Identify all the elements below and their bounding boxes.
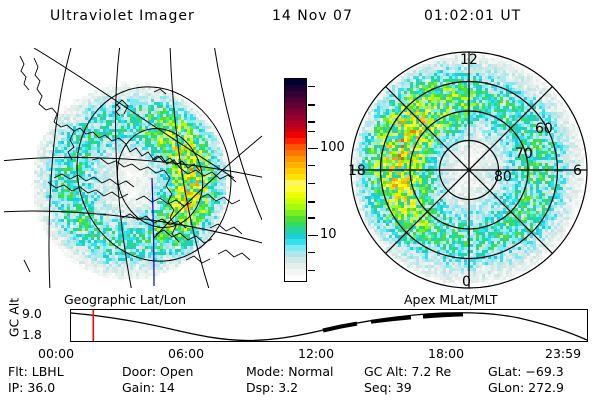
aurora-pixel bbox=[425, 55, 428, 58]
aurora-pixel bbox=[464, 94, 467, 97]
aurora-pixel bbox=[133, 234, 136, 237]
aurora-pixel bbox=[73, 117, 76, 120]
aurora-pixel bbox=[121, 177, 124, 180]
aurora-pixel bbox=[133, 267, 136, 270]
aurora-pixel bbox=[533, 94, 536, 97]
aurora-pixel bbox=[536, 103, 539, 106]
aurora-pixel bbox=[437, 64, 440, 67]
aurora-pixel bbox=[100, 147, 103, 150]
aurora-pixel bbox=[163, 204, 166, 207]
aurora-pixel bbox=[500, 127, 503, 130]
aurora-pixel bbox=[106, 159, 109, 162]
aurora-pixel bbox=[506, 61, 509, 64]
aurora-pixel bbox=[130, 141, 133, 144]
aurora-pixel bbox=[166, 267, 169, 270]
aurora-pixel bbox=[100, 273, 103, 276]
aurora-pixel bbox=[43, 192, 46, 195]
aurora-pixel bbox=[34, 201, 37, 204]
aurora-pixel bbox=[43, 213, 46, 216]
aurora-pixel bbox=[434, 82, 437, 85]
aurora-pixel bbox=[109, 150, 112, 153]
aurora-pixel bbox=[380, 121, 383, 124]
aurora-pixel bbox=[136, 276, 139, 279]
aurora-pixel bbox=[479, 58, 482, 61]
aurora-pixel bbox=[160, 93, 163, 96]
aurora-pixel bbox=[506, 106, 509, 109]
aurora-pixel bbox=[509, 64, 512, 67]
aurora-pixel bbox=[82, 183, 85, 186]
aurora-pixel bbox=[464, 124, 467, 127]
aurora-pixel bbox=[485, 70, 488, 73]
aurora-pixel bbox=[187, 123, 190, 126]
aurora-pixel bbox=[130, 237, 133, 240]
aurora-pixel bbox=[196, 111, 199, 114]
aurora-pixel bbox=[461, 121, 464, 124]
aurora-pixel bbox=[142, 240, 145, 243]
aurora-pixel bbox=[106, 90, 109, 93]
aurora-pixel bbox=[133, 117, 136, 120]
aurora-pixel bbox=[554, 94, 557, 97]
aurora-pixel bbox=[43, 135, 46, 138]
aurora-pixel bbox=[488, 94, 491, 97]
aurora-pixel bbox=[506, 64, 509, 67]
aurora-pixel bbox=[154, 99, 157, 102]
aurora-pixel bbox=[437, 67, 440, 70]
aurora-pixel bbox=[52, 198, 55, 201]
aurora-pixel bbox=[115, 240, 118, 243]
aurora-pixel bbox=[94, 90, 97, 93]
aurora-pixel bbox=[64, 147, 67, 150]
aurora-pixel bbox=[530, 88, 533, 91]
aurora-pixel bbox=[431, 79, 434, 82]
aurora-pixel bbox=[97, 111, 100, 114]
aurora-pixel bbox=[70, 186, 73, 189]
aurora-pixel bbox=[172, 120, 175, 123]
aurora-pixel bbox=[115, 228, 118, 231]
aurora-pixel bbox=[103, 114, 106, 117]
aurora-pixel bbox=[91, 258, 94, 261]
aurora-pixel bbox=[70, 162, 73, 165]
aurora-pixel bbox=[488, 64, 491, 67]
aurora-pixel bbox=[37, 183, 40, 186]
aurora-pixel bbox=[103, 183, 106, 186]
aurora-pixel bbox=[166, 105, 169, 108]
aurora-pixel bbox=[163, 207, 166, 210]
aurora-pixel bbox=[386, 91, 389, 94]
aurora-pixel bbox=[118, 243, 121, 246]
aurora-pixel bbox=[124, 126, 127, 129]
aurora-pixel bbox=[157, 93, 160, 96]
aurora-pixel bbox=[157, 189, 160, 192]
aurora-pixel bbox=[70, 174, 73, 177]
aurora-pixel bbox=[94, 192, 97, 195]
aurora-pixel bbox=[139, 222, 142, 225]
aurora-pixel bbox=[515, 115, 518, 118]
aurora-pixel bbox=[85, 201, 88, 204]
aurora-pixel bbox=[61, 201, 64, 204]
aurora-pixel bbox=[190, 243, 193, 246]
aurora-pixel bbox=[389, 112, 392, 115]
aurora-pixel bbox=[377, 100, 380, 103]
aurora-pixel bbox=[91, 168, 94, 171]
aurora-pixel bbox=[115, 267, 118, 270]
aurora-pixel bbox=[181, 117, 184, 120]
aurora-pixel bbox=[139, 237, 142, 240]
aurora-pixel bbox=[557, 103, 560, 106]
colorbar-gradient[interactable] bbox=[284, 78, 307, 282]
aurora-pixel bbox=[515, 106, 518, 109]
apex-polar-panel[interactable]: 12 6 0 18 60 70 80 bbox=[342, 48, 596, 292]
aurora-pixel bbox=[121, 132, 124, 135]
aurora-pixel bbox=[476, 124, 479, 127]
aurora-pixel bbox=[169, 108, 172, 111]
aurora-pixel bbox=[46, 132, 49, 135]
aurora-pixel bbox=[374, 103, 377, 106]
aurora-pixel bbox=[160, 216, 163, 219]
aurora-pixel bbox=[145, 96, 148, 99]
aurora-pixel bbox=[533, 91, 536, 94]
aurora-pixel bbox=[199, 207, 202, 210]
aurora-pixel bbox=[124, 207, 127, 210]
aurora-pixel bbox=[145, 252, 148, 255]
aurora-pixel bbox=[497, 124, 500, 127]
aurora-pixel bbox=[503, 97, 506, 100]
aurora-pixel bbox=[217, 153, 220, 156]
aurora-pixel bbox=[169, 228, 172, 231]
aurora-pixel bbox=[184, 264, 187, 267]
aurora-pixel bbox=[172, 267, 175, 270]
aurora-pixel bbox=[524, 127, 527, 130]
geographic-map-panel[interactable] bbox=[4, 48, 262, 288]
aurora-pixel bbox=[154, 129, 157, 132]
aurora-pixel bbox=[413, 88, 416, 91]
aurora-pixel bbox=[211, 126, 214, 129]
aurora-pixel bbox=[464, 76, 467, 79]
aurora-pixel bbox=[452, 55, 455, 58]
aurora-pixel bbox=[61, 192, 64, 195]
aurora-pixel bbox=[178, 117, 181, 120]
aurora-pixel bbox=[157, 177, 160, 180]
aurora-pixel bbox=[199, 147, 202, 150]
aurora-pixel bbox=[217, 135, 220, 138]
aurora-pixel bbox=[148, 132, 151, 135]
aurora-pixel bbox=[100, 150, 103, 153]
aurora-pixel bbox=[112, 102, 115, 105]
aurora-pixel bbox=[94, 246, 97, 249]
aurora-pixel bbox=[512, 115, 515, 118]
aurora-pixel bbox=[97, 252, 100, 255]
aurora-pixel bbox=[557, 124, 560, 127]
aurora-pixel bbox=[43, 219, 46, 222]
aurora-pixel bbox=[554, 106, 557, 109]
aurora-pixel bbox=[130, 240, 133, 243]
aurora-pixel bbox=[542, 88, 545, 91]
aurora-pixel bbox=[91, 135, 94, 138]
aurora-pixel bbox=[518, 112, 521, 115]
aurora-pixel bbox=[482, 76, 485, 79]
aurora-pixel bbox=[187, 168, 190, 171]
aurora-pixel bbox=[521, 124, 524, 127]
aurora-pixel bbox=[103, 276, 106, 279]
aurora-pixel bbox=[422, 73, 425, 76]
aurora-pixel bbox=[413, 91, 416, 94]
aurora-pixel bbox=[178, 111, 181, 114]
aurora-pixel bbox=[61, 177, 64, 180]
aurora-pixel bbox=[67, 129, 70, 132]
aurora-pixel bbox=[52, 216, 55, 219]
aurora-pixel bbox=[55, 138, 58, 141]
aurora-pixel bbox=[476, 103, 479, 106]
aurora-pixel bbox=[566, 130, 569, 133]
aurora-pixel bbox=[524, 118, 527, 121]
aurora-pixel bbox=[100, 168, 103, 171]
aurora-pixel bbox=[193, 258, 196, 261]
aurora-pixel bbox=[407, 91, 410, 94]
aurora-pixel bbox=[527, 115, 530, 118]
aurora-pixel bbox=[187, 135, 190, 138]
aurora-pixel bbox=[386, 121, 389, 124]
aurora-pixel bbox=[133, 276, 136, 279]
aurora-pixel bbox=[103, 126, 106, 129]
aurora-pixel bbox=[67, 132, 70, 135]
aurora-pixel bbox=[115, 249, 118, 252]
aurora-pixel bbox=[368, 109, 371, 112]
aurora-pixel bbox=[371, 118, 374, 121]
aurora-pixel bbox=[154, 195, 157, 198]
aurora-pixel bbox=[187, 246, 190, 249]
aurora-pixel bbox=[500, 91, 503, 94]
aurora-pixel bbox=[554, 121, 557, 124]
aurora-pixel bbox=[88, 96, 91, 99]
aurora-pixel bbox=[205, 168, 208, 171]
aurora-pixel bbox=[88, 240, 91, 243]
aurora-pixel bbox=[103, 177, 106, 180]
aurora-pixel bbox=[133, 195, 136, 198]
aurora-pixel bbox=[85, 111, 88, 114]
aurora-pixel bbox=[479, 106, 482, 109]
aurora-pixel bbox=[139, 270, 142, 273]
aurora-pixel bbox=[67, 240, 70, 243]
aurora-pixel bbox=[434, 76, 437, 79]
aurora-pixel bbox=[154, 114, 157, 117]
aurora-pixel bbox=[85, 255, 88, 258]
aurora-pixel bbox=[79, 249, 82, 252]
aurora-pixel bbox=[449, 130, 452, 133]
aurora-pixel bbox=[491, 70, 494, 73]
aurora-pixel bbox=[509, 79, 512, 82]
aurora-pixel bbox=[530, 97, 533, 100]
aurora-pixel bbox=[497, 94, 500, 97]
aurora-pixel bbox=[40, 207, 43, 210]
aurora-pixel bbox=[187, 243, 190, 246]
aurora-pixel bbox=[58, 147, 61, 150]
aurora-pixel bbox=[443, 70, 446, 73]
aurora-pixel bbox=[73, 135, 76, 138]
aurora-pixel bbox=[380, 94, 383, 97]
aurora-pixel bbox=[97, 96, 100, 99]
aurora-pixel bbox=[169, 261, 172, 264]
aurora-pixel bbox=[130, 93, 133, 96]
aurora-pixel bbox=[491, 130, 494, 133]
aurora-pixel bbox=[109, 84, 112, 87]
aurora-pixel bbox=[163, 177, 166, 180]
aurora-pixel bbox=[208, 231, 211, 234]
aurora-pixel bbox=[142, 207, 145, 210]
aurora-pixel bbox=[506, 67, 509, 70]
aurora-pixel bbox=[202, 120, 205, 123]
aurora-pixel bbox=[455, 76, 458, 79]
aurora-pixel bbox=[145, 168, 148, 171]
aurora-pixel bbox=[52, 237, 55, 240]
aurora-pixel bbox=[160, 243, 163, 246]
aurora-pixel bbox=[515, 103, 518, 106]
aurora-pixel bbox=[124, 225, 127, 228]
aurora-pixel bbox=[503, 127, 506, 130]
aurora-pixel bbox=[181, 210, 184, 213]
aurora-pixel bbox=[157, 216, 160, 219]
aurora-pixel bbox=[184, 240, 187, 243]
aurora-pixel bbox=[103, 243, 106, 246]
aurora-pixel bbox=[85, 141, 88, 144]
aurora-pixel bbox=[118, 273, 121, 276]
aurora-pixel bbox=[205, 210, 208, 213]
aurora-pixel bbox=[103, 120, 106, 123]
aurora-pixel bbox=[67, 216, 70, 219]
aurora-pixel bbox=[431, 115, 434, 118]
aurora-pixel bbox=[410, 91, 413, 94]
aurora-pixel bbox=[503, 115, 506, 118]
aurora-pixel bbox=[100, 246, 103, 249]
aurora-pixel bbox=[91, 228, 94, 231]
aurora-pixel bbox=[106, 210, 109, 213]
aurora-pixel bbox=[154, 252, 157, 255]
aurora-pixel bbox=[121, 174, 124, 177]
aurora-pixel bbox=[395, 109, 398, 112]
aurora-pixel bbox=[58, 117, 61, 120]
aurora-pixel bbox=[112, 120, 115, 123]
aurora-pixel bbox=[70, 105, 73, 108]
aurora-pixel bbox=[524, 124, 527, 127]
aurora-pixel bbox=[389, 94, 392, 97]
aurora-pixel bbox=[97, 174, 100, 177]
aurora-pixel bbox=[205, 135, 208, 138]
aurora-pixel bbox=[148, 156, 151, 159]
aurora-pixel bbox=[184, 129, 187, 132]
aurora-pixel bbox=[443, 73, 446, 76]
aurora-pixel bbox=[521, 106, 524, 109]
aurora-pixel bbox=[211, 210, 214, 213]
aurora-pixel bbox=[527, 88, 530, 91]
aurora-pixel bbox=[73, 258, 76, 261]
aurora-pixel bbox=[449, 64, 452, 67]
aurora-pixel bbox=[166, 204, 169, 207]
aurora-pixel bbox=[193, 126, 196, 129]
aurora-pixel bbox=[443, 109, 446, 112]
aurora-pixel bbox=[407, 94, 410, 97]
aurora-pixel bbox=[85, 228, 88, 231]
aurora-pixel bbox=[157, 249, 160, 252]
aurora-pixel bbox=[428, 115, 431, 118]
aurora-pixel bbox=[437, 115, 440, 118]
aurora-pixel bbox=[413, 82, 416, 85]
aurora-pixel bbox=[452, 91, 455, 94]
aurora-pixel bbox=[491, 64, 494, 67]
aurora-pixel bbox=[163, 240, 166, 243]
aurora-pixel bbox=[503, 109, 506, 112]
aurora-pixel bbox=[100, 162, 103, 165]
aurora-pixel bbox=[521, 82, 524, 85]
aurora-pixel bbox=[67, 246, 70, 249]
aurora-pixel bbox=[61, 243, 64, 246]
aurora-pixel bbox=[34, 195, 37, 198]
aurora-pixel bbox=[437, 91, 440, 94]
aurora-pixel bbox=[142, 90, 145, 93]
aurora-pixel bbox=[479, 55, 482, 58]
aurora-pixel bbox=[160, 153, 163, 156]
aurora-pixel bbox=[94, 153, 97, 156]
aurora-pixel bbox=[169, 246, 172, 249]
aurora-pixel bbox=[425, 103, 428, 106]
aurora-pixel bbox=[217, 159, 220, 162]
aurora-pixel bbox=[109, 165, 112, 168]
aurora-pixel bbox=[208, 174, 211, 177]
aurora-pixel bbox=[94, 117, 97, 120]
aurora-pixel bbox=[503, 118, 506, 121]
aurora-pixel bbox=[73, 171, 76, 174]
aurora-pixel bbox=[560, 115, 563, 118]
aurora-pixel bbox=[422, 70, 425, 73]
aurora-pixel bbox=[133, 204, 136, 207]
aurora-pixel bbox=[61, 171, 64, 174]
aurora-pixel bbox=[121, 114, 124, 117]
aurora-pixel bbox=[130, 132, 133, 135]
aurora-pixel bbox=[58, 150, 61, 153]
aurora-pixel bbox=[94, 150, 97, 153]
aurora-pixel bbox=[127, 177, 130, 180]
aurora-pixel bbox=[476, 76, 479, 79]
aurora-pixel bbox=[79, 114, 82, 117]
aurora-pixel bbox=[440, 82, 443, 85]
aurora-pixel bbox=[130, 273, 133, 276]
aurora-pixel bbox=[503, 85, 506, 88]
aurora-pixel bbox=[136, 108, 139, 111]
aurora-pixel bbox=[109, 135, 112, 138]
aurora-pixel bbox=[127, 228, 130, 231]
aurora-pixel bbox=[52, 174, 55, 177]
aurora-pixel bbox=[145, 156, 148, 159]
aurora-pixel bbox=[440, 73, 443, 76]
geographic-map-svg bbox=[4, 48, 262, 288]
aurora-pixel bbox=[46, 201, 49, 204]
aurora-pixel bbox=[79, 216, 82, 219]
aurora-pixel bbox=[428, 103, 431, 106]
aurora-pixel bbox=[79, 231, 82, 234]
aurora-pixel bbox=[220, 201, 223, 204]
aurora-pixel bbox=[73, 204, 76, 207]
aurora-pixel bbox=[88, 195, 91, 198]
aurora-pixel bbox=[569, 124, 572, 127]
aurora-pixel bbox=[226, 177, 229, 180]
aurora-pixel bbox=[100, 153, 103, 156]
aurora-pixel bbox=[214, 186, 217, 189]
aurora-pixel bbox=[61, 234, 64, 237]
aurora-pixel bbox=[193, 183, 196, 186]
aurora-pixel bbox=[85, 216, 88, 219]
aurora-pixel bbox=[106, 249, 109, 252]
aurora-pixel bbox=[166, 114, 169, 117]
aurora-pixel bbox=[470, 85, 473, 88]
aurora-pixel bbox=[452, 97, 455, 100]
